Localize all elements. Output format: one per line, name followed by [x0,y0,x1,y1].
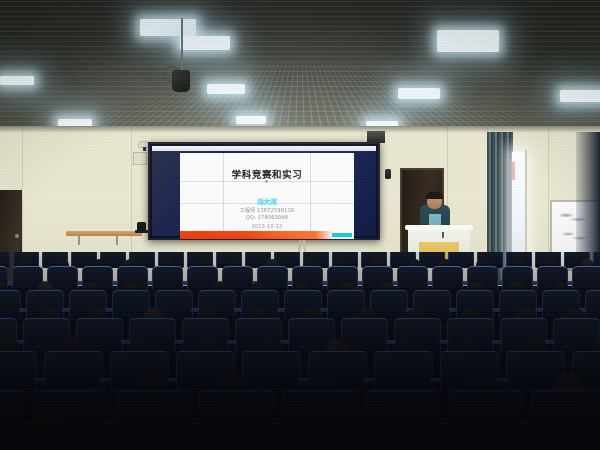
seat-armrest [439,340,449,344]
slide-author: 冯大河 [180,196,354,206]
ceiling-light-panel [140,19,196,36]
ceiling [0,0,600,132]
seat-armrest [520,422,533,426]
seat-armrest [62,308,70,312]
ceiling-light-panel [437,30,499,52]
display-top-strip [152,146,376,151]
seat-armrest [497,281,503,285]
podium-top [405,225,473,230]
auditorium-seat[interactable] [0,432,94,450]
seat-armrest [492,340,502,344]
auditorium-seat[interactable] [152,266,183,290]
seat-armrest [492,308,500,312]
auditorium-seat[interactable] [222,266,253,290]
seat-armrest [364,378,375,382]
slide-contact-line-1: 工程师 13672599116 [180,207,354,214]
seat-armrest [567,281,573,285]
auditorium-seat[interactable] [585,290,600,319]
auditorium-seat[interactable] [572,266,600,290]
slide-corner-badge [332,233,352,237]
auditorium-seat[interactable] [208,432,304,450]
seat-armrest [386,340,396,344]
auditorium-seat[interactable] [523,432,600,450]
seat-armrest [427,281,433,285]
auditorium-seat[interactable] [418,432,514,450]
seat-armrest [535,308,543,312]
audience-area [0,252,600,450]
seat-armrest [112,281,118,285]
auditorium-seat[interactable] [432,266,463,290]
seat-armrest [277,308,285,312]
shelf-bracket [78,236,80,245]
ceiling-vignette [0,0,600,132]
projector-icon [172,70,190,92]
seat-armrest [462,281,468,285]
window-glare [512,162,515,180]
slide-date: 2023-10-12 [180,224,354,230]
ceiling-light-panel [398,88,440,99]
seat-armrest [532,281,538,285]
seat-armrest [430,378,441,382]
seat-armrest [227,340,237,344]
seat-armrest [182,281,188,285]
ceiling-light-panel [560,90,600,102]
seat-armrest [280,340,290,344]
seat-armrest [437,422,450,426]
auditorium-seat[interactable] [397,266,428,290]
projector-mount-pole [181,18,183,73]
seat-armrest [147,281,153,285]
lecture-hall-photo: 学科竞赛和实习 冯大河 工程师 13672599116 QQ: 27806306… [0,0,600,450]
seat-armrest [320,308,328,312]
seat-armrest [19,308,27,312]
seat-armrest [191,308,199,312]
shelf-bracket [116,236,118,245]
seat-armrest [105,422,118,426]
ceiling-light-panel [207,84,245,94]
ceiling-light-panel [0,76,34,85]
slide-footer-bar [180,231,354,239]
seat-armrest [77,281,83,285]
seat-armrest [234,308,242,312]
wall-speaker-small-icon [385,169,391,179]
seat-armrest [322,281,328,285]
seat-armrest [174,340,184,344]
auditorium-seat[interactable] [0,351,37,394]
seat-armrest [496,378,507,382]
auditorium-seat[interactable] [374,351,433,394]
auditorium-seat[interactable] [103,432,199,450]
shelf-speaker-icon [137,222,146,232]
seat-armrest [545,340,555,344]
slide-contact-line-2: QQ: 278063068 [180,215,354,221]
auditorium-seat[interactable] [44,351,103,394]
presentation-display[interactable]: 学科竞赛和实习 冯大河 工程师 13672599116 QQ: 27806306… [148,142,380,240]
seat-armrest [287,281,293,285]
door-knob-icon [15,234,19,238]
ceiling-light-panel [236,116,266,124]
microphone-icon [442,232,444,238]
wall-access-panel [133,152,147,165]
presenter-hair [426,192,443,199]
wall-shelf [66,231,142,236]
presentation-slide: 学科竞赛和实习 冯大河 工程师 13672599116 QQ: 27806306… [180,153,354,239]
seat-armrest [449,308,457,312]
auditorium-seat[interactable] [313,432,409,450]
seat-armrest [100,378,111,382]
ceiling-light-panel [180,36,230,50]
seat-armrest [188,422,201,426]
seat-armrest [34,378,45,382]
slide-title: 学科竞赛和实习 [180,167,354,181]
seat-armrest [7,281,13,285]
seat-armrest [357,281,363,285]
auditorium-seat[interactable] [242,351,301,394]
